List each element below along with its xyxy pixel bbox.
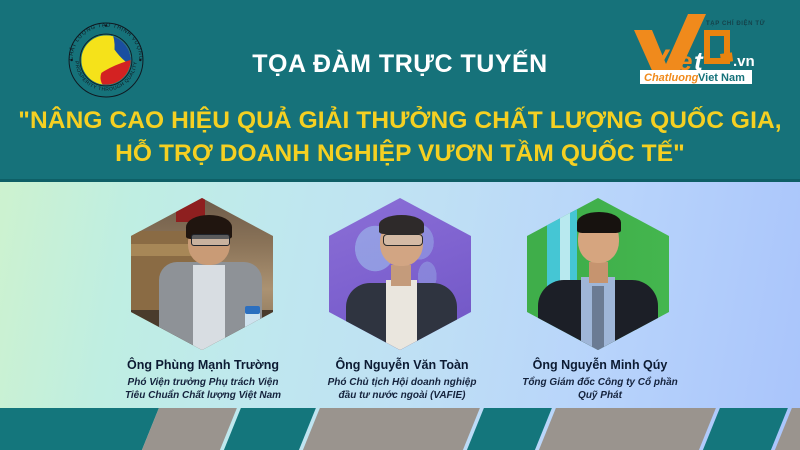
header-banner: CHẤT LƯỢNG TẠO THỊNH VƯỢNG PROSPERITY TH… [0,0,800,182]
footer-stripe [0,408,161,450]
headline-line-1: "NÂNG CAO HIỆU QUẢ GIẢI THƯỞNG CHẤT LƯỢN… [18,107,781,134]
speaker-name-3: Ông Nguyễn Minh Qúy [475,358,725,374]
svg-text:TẠP CHÍ ĐIỆN TỬ: TẠP CHÍ ĐIỆN TỬ [706,19,765,27]
speaker-photo-3 [527,198,669,350]
vietq-logo-icon[interactable]: V i e t .vn TẠP CHÍ ĐIỆN TỬ Chatluong Vi… [626,8,776,88]
poster-canvas: CHẤT LƯỢNG TẠO THỊNH VƯỢNG PROSPERITY TH… [0,0,800,450]
svg-text:Chatluong: Chatluong [644,72,699,84]
footer-stripe [221,408,319,450]
speaker-role-3-line-1: Tổng Giám đốc Công ty Cổ phần [475,376,725,390]
speaker-caption-3: Ông Nguyễn Minh Qúy Tổng Giám đốc Công t… [475,358,725,403]
speaker-role-3: Tổng Giám đốc Công ty Cổ phần Quỹ Phát [475,376,725,403]
footer-stripe-band [0,408,800,450]
footer-stripe [300,408,483,450]
event-headline: "NÂNG CAO HIỆU QUẢ GIẢI THƯỞNG CHẤT LƯỢN… [0,104,800,170]
speaker-photo-1 [131,198,273,350]
svg-text:.vn: .vn [733,53,755,70]
svg-text:Viet Nam: Viet Nam [698,72,745,84]
headline-line-2: HỖ TRỢ DOANH NGHIỆP VƯƠN TẦM QUỐC TẾ" [0,137,800,170]
speaker-role-3-line-2: Quỹ Phát [475,389,725,403]
speaker-photo-2 [329,198,471,350]
speakers-section: Ông Phùng Mạnh Trường Phó Viện trưởng Ph… [0,182,800,450]
footer-stripe [536,408,719,450]
